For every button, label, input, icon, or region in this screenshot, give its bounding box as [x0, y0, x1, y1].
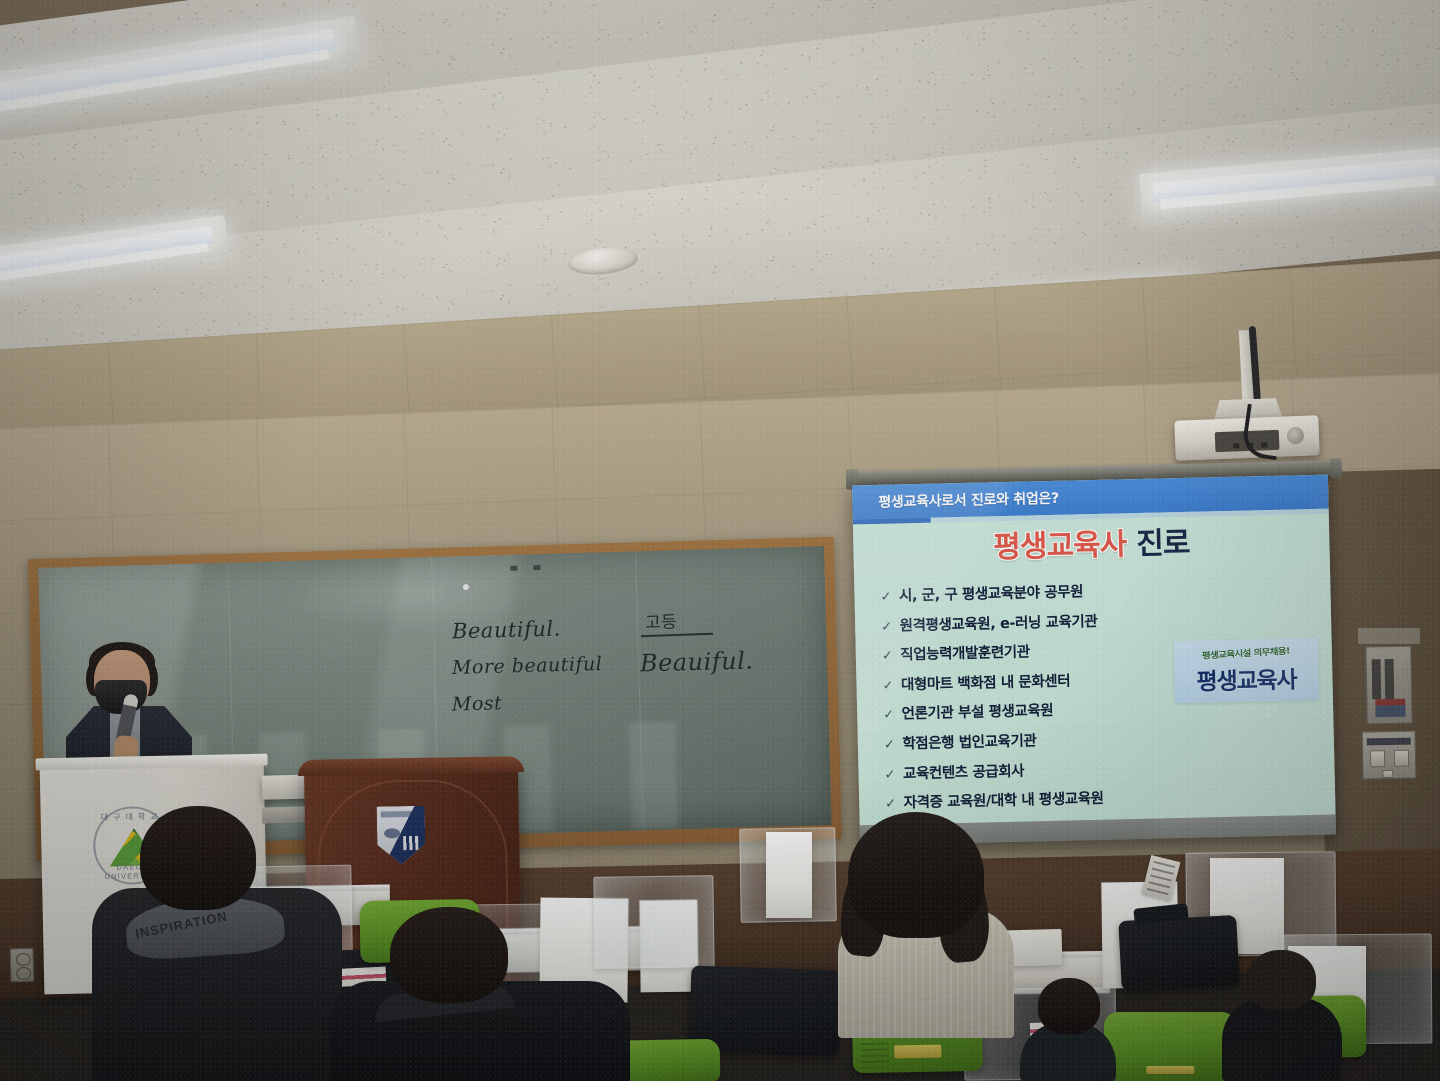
slide-title-highlight: 평생교육사 — [993, 527, 1127, 565]
light-switch[interactable] — [1370, 750, 1385, 767]
bullet-text: 시, 군, 구 평생교육분야 공무원 — [899, 580, 1084, 605]
badge-main-text: 평생교육사 — [1196, 660, 1297, 696]
checkmark-icon: ✓ — [883, 708, 894, 723]
lecture-hall-photo: Beautiful. More beautiful Most 고등 Beauif… — [0, 0, 1440, 1081]
light-switch-plate[interactable] — [1362, 731, 1417, 780]
bullet-text: 직업능력개발훈련기관 — [900, 641, 1030, 665]
checkmark-icon: ✓ — [885, 797, 896, 812]
list-item: ✓ 시, 군, 구 평생교육분야 공무원 — [880, 575, 1320, 606]
projector-lens-icon — [1287, 427, 1305, 445]
list-item: ✓ 자격증 교육원/대학 내 평생교육원 — [885, 782, 1325, 813]
list-item: ✓ 학점은행 법인교육기관 — [884, 723, 1324, 754]
bullet-text: 교육컨텐츠 공급회사 — [903, 759, 1025, 783]
slide-title-rest: 진로 — [1136, 526, 1190, 562]
wall-label — [1358, 628, 1420, 644]
whiteboard-text-line3: Most — [452, 692, 503, 715]
whiteboard-clip — [533, 565, 540, 570]
checkmark-icon: ✓ — [882, 649, 893, 664]
bullet-text: 원격평생교육원, e-러닝 교육기관 — [899, 610, 1097, 635]
student-seated — [838, 812, 1018, 1032]
list-item: ✓ 교육컨텐츠 공급회사 — [884, 752, 1324, 783]
slide-header-title: 평생교육사로서 진로와 취업은? — [852, 488, 1059, 513]
projection-screen: 평생교육사로서 진로와 취업은? 평생교육사진로 ✓ 시, 군, 구 평생교육분… — [852, 475, 1336, 846]
whiteboard-text-line4: Beauiful. — [640, 647, 754, 678]
whiteboard-text-line1: Beautiful. — [452, 617, 561, 644]
whiteboard-text-line2: More beautiful — [452, 653, 603, 679]
light-switch[interactable] — [1382, 770, 1393, 778]
badge-top-text: 평생교육시설 의무채용! — [1202, 644, 1290, 662]
student-seated-foreground: INSPIRATION — [92, 806, 342, 1081]
av-control-panel[interactable] — [1365, 646, 1412, 725]
list-item: ✓ 원격평생교육원, e-러닝 교육기관 — [881, 604, 1321, 635]
bullet-text: 학점은행 법인교육기관 — [902, 729, 1037, 753]
bullet-text: 대형마트 백화점 내 문화센터 — [901, 669, 1071, 694]
checkmark-icon: ✓ — [882, 678, 893, 693]
paper-sheet — [766, 832, 812, 918]
slide-title: 평생교육사진로 — [853, 515, 1330, 570]
light-switch[interactable] — [1394, 750, 1409, 767]
whiteboard-magnet — [463, 584, 469, 590]
student-seated — [1222, 950, 1342, 1081]
checkmark-icon: ✓ — [884, 738, 895, 753]
control-buttons[interactable] — [1372, 659, 1409, 700]
checkmark-icon: ✓ — [884, 767, 895, 782]
student-seated-foreground — [330, 915, 630, 1081]
slide-badge-graphic: 평생교육시설 의무채용! 평생교육사 — [1174, 638, 1319, 703]
bullet-text: 언론기관 부설 평생교육원 — [901, 699, 1053, 723]
checkmark-icon: ✓ — [881, 619, 892, 634]
classroom-chair[interactable] — [1104, 1012, 1236, 1081]
checkmark-icon: ✓ — [880, 590, 891, 605]
whiteboard-clip — [510, 566, 517, 571]
bullet-text: 자격증 교육원/대학 내 평생교육원 — [903, 787, 1103, 813]
presentation-slide: 평생교육사로서 진로와 취업은? 평생교육사진로 ✓ 시, 군, 구 평생교육분… — [852, 475, 1336, 826]
student-seated — [1020, 978, 1116, 1081]
whiteboard-text-korean: 고등 — [645, 607, 678, 633]
wall-power-outlet[interactable] — [10, 948, 35, 983]
control-panel-display — [1375, 699, 1405, 718]
